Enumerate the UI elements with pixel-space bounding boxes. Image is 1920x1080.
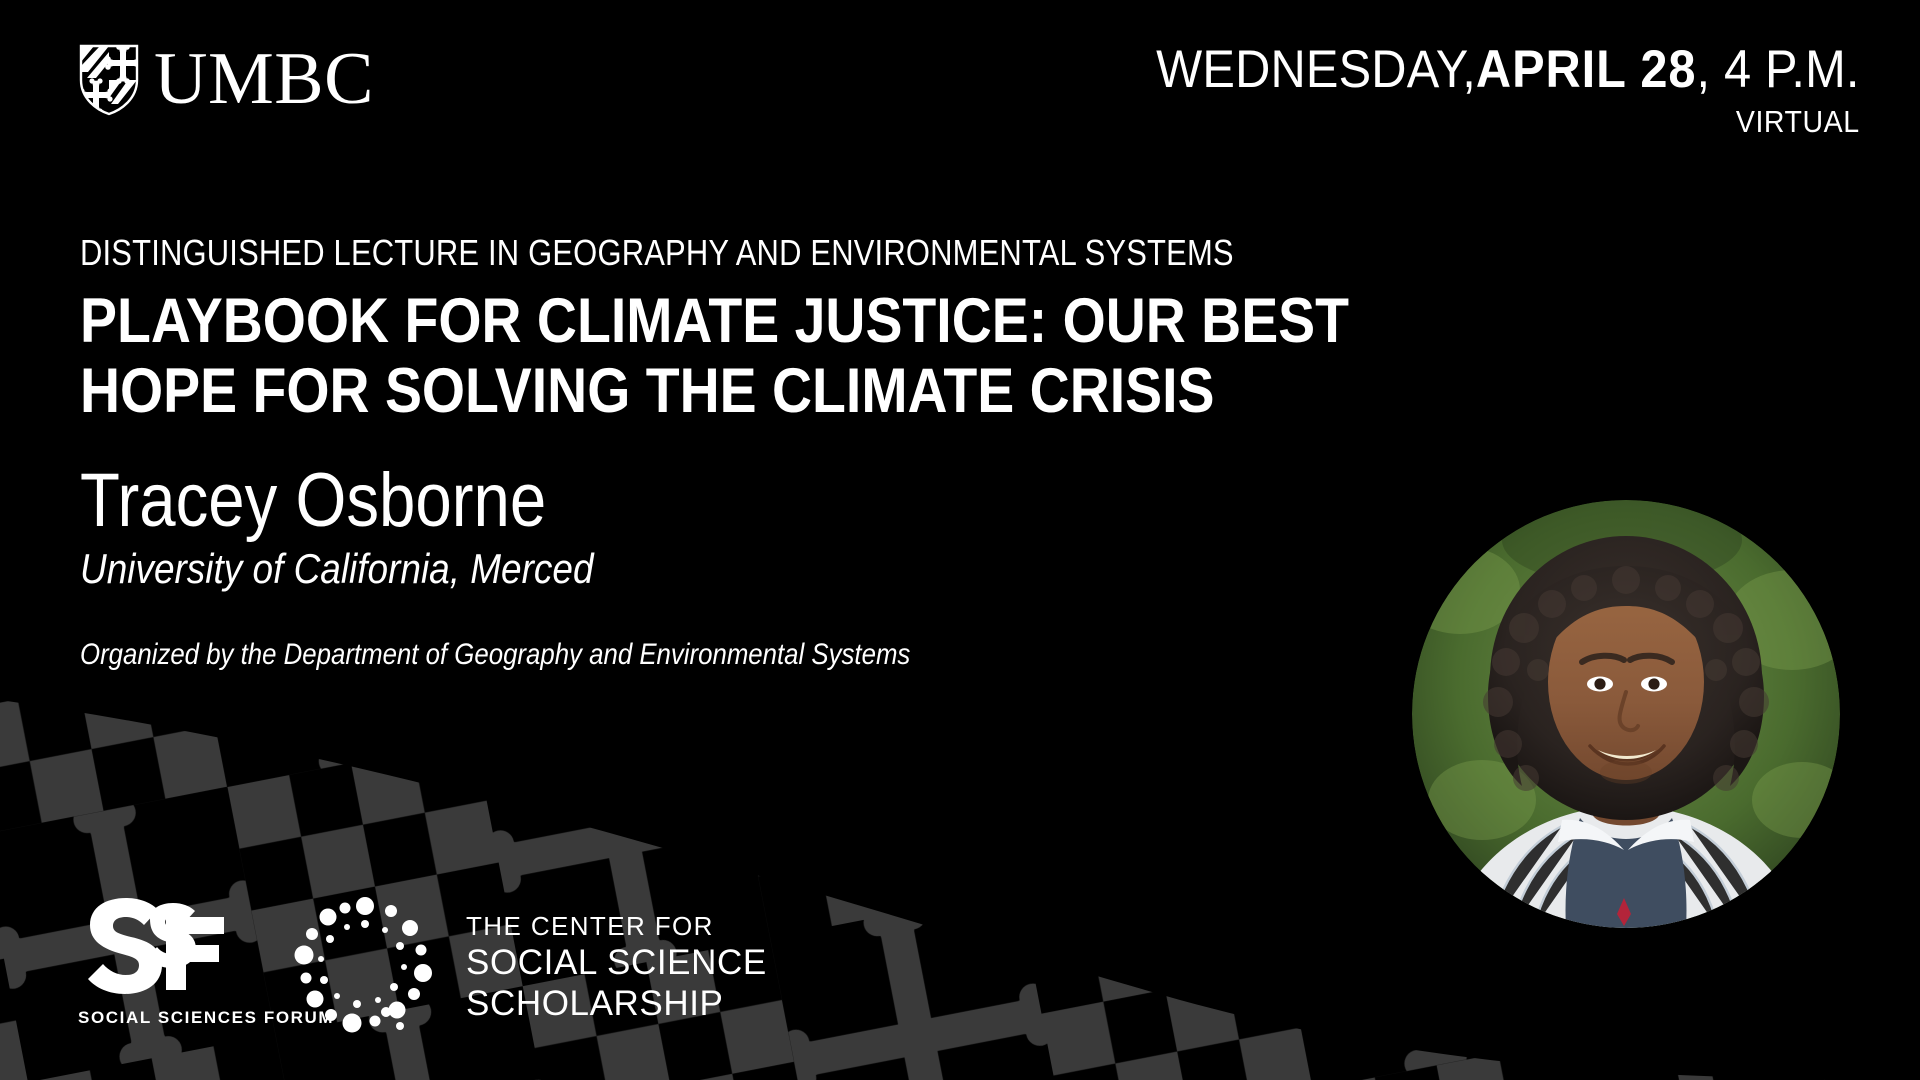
speaker-portrait-photo xyxy=(1412,500,1840,928)
organizer-line: Organized by the Department of Geography… xyxy=(80,636,1344,674)
umbc-logo: UMBC xyxy=(78,42,374,116)
ssf-monogram-icon xyxy=(78,895,258,1000)
umbc-wordmark: UMBC xyxy=(154,42,374,116)
center-logo-line-2: SOCIAL SCIENCE xyxy=(466,942,767,983)
event-title-line-1: PLAYBOOK FOR CLIMATE JUSTICE: OUR BEST xyxy=(80,286,1374,356)
event-format-badge: VIRTUAL xyxy=(1157,102,1860,142)
center-logo-line-1: THE CENTER FOR xyxy=(466,911,767,942)
lecture-series-label: DISTINGUISHED LECTURE IN GEOGRAPHY AND E… xyxy=(80,232,1344,274)
center-logo-text: THE CENTER FOR SOCIAL SCIENCE SCHOLARSHI… xyxy=(466,907,767,1024)
dotted-circle-icon xyxy=(290,890,440,1040)
ssf-logo: SOCIAL SCIENCES FORUM xyxy=(78,895,258,1028)
umbc-maryland-shield-icon xyxy=(78,42,140,116)
speaker-affiliation: University of California, Merced xyxy=(80,544,1374,594)
event-date-block: WEDNESDAY,APRIL 28, 4 P.M. VIRTUAL xyxy=(1095,40,1860,142)
ssf-tagline: SOCIAL SCIENCES FORUM xyxy=(78,1008,258,1028)
event-flyer: UMBC WEDNESDAY,APRIL 28, 4 P.M. VIRTUAL … xyxy=(0,0,1920,1080)
event-date-line: WEDNESDAY,APRIL 28, 4 P.M. xyxy=(1157,40,1860,100)
event-title: PLAYBOOK FOR CLIMATE JUSTICE: OUR BEST H… xyxy=(80,286,1374,426)
date-time: , 4 P.M. xyxy=(1697,40,1860,99)
speaker-name: Tracey Osborne xyxy=(80,460,1344,542)
date-day: WEDNESDAY, xyxy=(1157,40,1477,99)
center-logo-line-3: SCHOLARSHIP xyxy=(466,983,767,1024)
event-title-line-2: HOPE FOR SOLVING THE CLIMATE CRISIS xyxy=(80,356,1374,426)
date-month-day: APRIL 28 xyxy=(1476,40,1697,99)
center-social-science-scholarship-logo: THE CENTER FOR SOCIAL SCIENCE SCHOLARSHI… xyxy=(290,890,767,1040)
event-copy-block: DISTINGUISHED LECTURE IN GEOGRAPHY AND E… xyxy=(80,232,1550,674)
